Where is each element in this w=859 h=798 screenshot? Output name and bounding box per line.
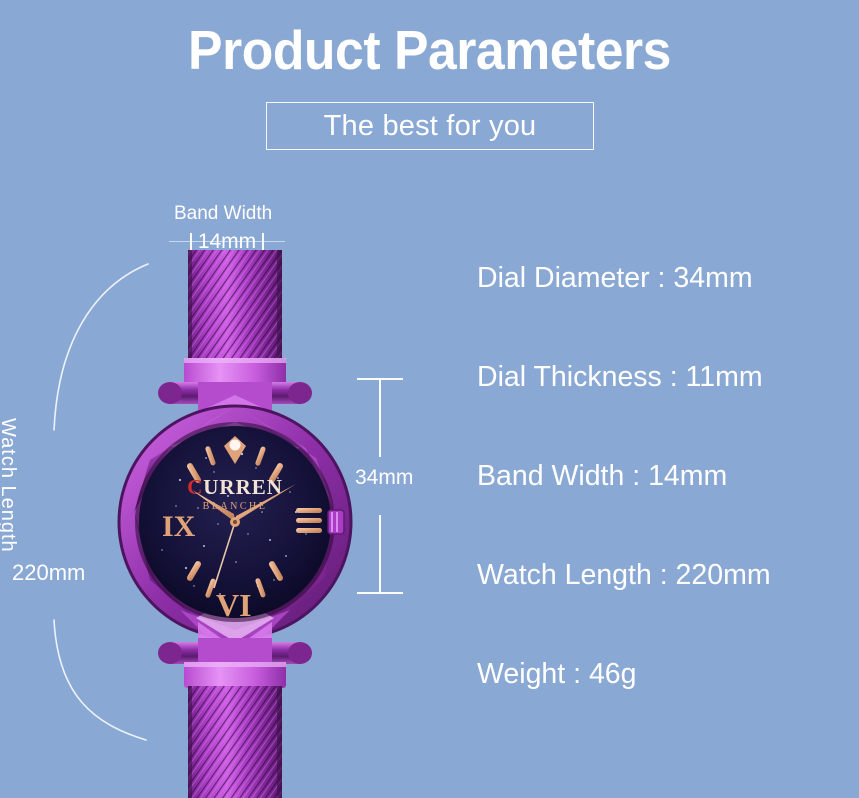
watch-crown bbox=[328, 510, 344, 534]
watch-band-clasp-lower bbox=[184, 662, 286, 688]
parameter-band-width: Band Width : 14mm bbox=[477, 456, 857, 555]
watch-band-clasp-upper bbox=[184, 358, 286, 384]
parameter-watch-length: Watch Length : 220mm bbox=[477, 555, 857, 654]
watch-band-upper bbox=[188, 250, 282, 362]
subtitle-box: The best for you bbox=[266, 102, 594, 150]
dial-diameter-value: 34mm bbox=[355, 466, 413, 490]
svg-text:CURREN: CURREN bbox=[187, 475, 283, 499]
dial-numeral-nine: IX bbox=[162, 510, 196, 543]
parameter-dial-diameter: Dial Diameter : 34mm bbox=[477, 258, 857, 357]
watch-length-label: Watch Length bbox=[0, 418, 19, 553]
watch-length-value: 220mm bbox=[12, 560, 85, 586]
product-parameters-image: Product Parameters The best for you Band… bbox=[0, 0, 859, 798]
parameter-list: Dial Diameter : 34mm Dial Thickness : 11… bbox=[477, 258, 857, 753]
dimension-stem-upper bbox=[379, 379, 381, 457]
parameter-weight: Weight : 46g bbox=[477, 654, 857, 753]
dial-diameter-dimension: 34mm bbox=[357, 378, 417, 594]
watch-band-lower bbox=[188, 686, 282, 798]
dial-numeral-six: VI bbox=[216, 587, 252, 623]
subtitle-text: The best for you bbox=[324, 110, 537, 143]
page-title: Product Parameters bbox=[26, 18, 833, 82]
parameter-dial-thickness: Dial Thickness : 11mm bbox=[477, 357, 857, 456]
dimension-stem-lower bbox=[379, 515, 381, 593]
dimension-cap-bottom bbox=[357, 592, 403, 594]
watch-product-image: IX VI CURREN BLANCHE bbox=[110, 250, 360, 798]
band-width-label: Band Width bbox=[174, 203, 272, 225]
tick-right-icon bbox=[262, 233, 263, 251]
